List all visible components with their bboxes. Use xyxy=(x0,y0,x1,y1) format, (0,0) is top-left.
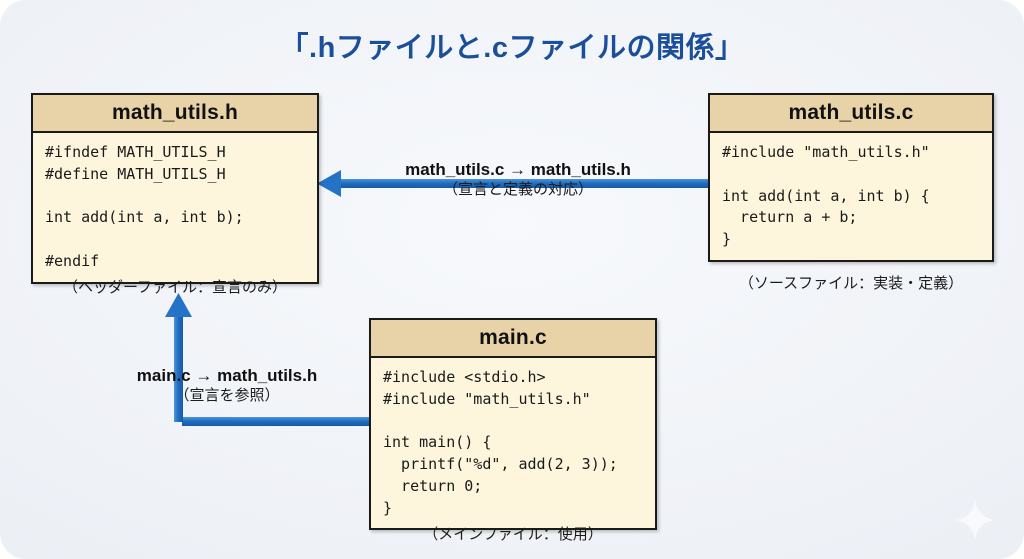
arrow-label-main-to-h-main: main.c → math_utils.h xyxy=(76,365,378,386)
arrow-label-main-to-h-sub: （宣言を参照） xyxy=(76,386,378,406)
arrow-label-c-to-h: math_utils.c → math_utils.h （宣言と定義の対応） xyxy=(330,159,706,200)
sparkle-icon xyxy=(953,498,997,542)
file-box-title-math-utils-h: math_utils.h xyxy=(33,95,317,133)
file-box-title-main-c: main.c xyxy=(371,320,655,358)
diagram-canvas: 「.hファイルと.cファイルの関係」 m xyxy=(0,0,1024,559)
arrow-main-to-h xyxy=(165,293,370,426)
caption-main-c: （メインファイル：使用） xyxy=(369,523,657,544)
file-box-code-main-c: #include <stdio.h> #include "math_utils.… xyxy=(371,358,655,528)
file-box-math-utils-c[interactable]: math_utils.c #include "math_utils.h" int… xyxy=(708,93,994,262)
arrow-label-main-to-h: main.c → math_utils.h （宣言を参照） xyxy=(76,365,378,406)
caption-math-utils-h: （ヘッダーファイル：宣言のみ） xyxy=(31,276,319,297)
page-title: 「.hファイルと.cファイルの関係」 xyxy=(0,24,1024,66)
caption-math-utils-c: （ソースファイル：実装・定義） xyxy=(708,272,994,293)
file-box-math-utils-h[interactable]: math_utils.h #ifndef MATH_UTILS_H #defin… xyxy=(31,93,319,284)
arrow-label-c-to-h-sub: （宣言と定義の対応） xyxy=(330,180,706,200)
file-box-code-math-utils-h: #ifndef MATH_UTILS_H #define MATH_UTILS_… xyxy=(33,133,317,282)
file-box-title-math-utils-c: math_utils.c xyxy=(710,95,992,133)
file-box-main-c[interactable]: main.c #include <stdio.h> #include "math… xyxy=(369,318,657,530)
file-box-code-math-utils-c: #include "math_utils.h" int add(int a, i… xyxy=(710,133,992,260)
arrow-label-c-to-h-main: math_utils.c → math_utils.h xyxy=(330,159,706,180)
